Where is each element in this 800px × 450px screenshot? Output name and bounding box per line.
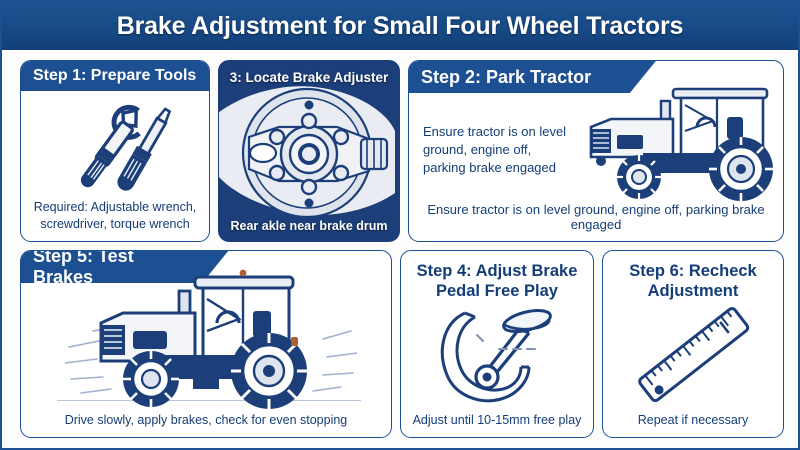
step-title: Step 1: Prepare Tools [33, 67, 196, 85]
step-title: Step 4: Adjust Brake Pedal Free Play [401, 251, 593, 301]
step-banner: Step 1: Prepare Tools [21, 61, 209, 91]
brake-drum-hub-icon [219, 61, 400, 242]
step-card-test-brakes[interactable]: Step 5: Test Brakes [20, 250, 392, 438]
step-card-recheck-adjustment[interactable]: Step 6: Recheck Adjustment [602, 250, 784, 438]
poster-header: Brake Adjustment for Small Four Wheel Tr… [2, 2, 798, 50]
step-card-adjust-pedal-free-play[interactable]: Step 4: Adjust Brake Pedal Free Play [400, 250, 594, 438]
step-title: Step 2: Park Tractor [421, 67, 591, 88]
step-card-locate-brake-adjuster[interactable]: 3: Locate Brake Adjuster Rear akle near … [218, 60, 400, 242]
wrench-screwdriver-icon [49, 97, 183, 201]
step-caption: Required: Adjustable wrench, screwdriver… [21, 199, 209, 232]
tractor-icon [577, 83, 784, 205]
step-caption: Adjust until 10-15mm free play [401, 412, 593, 429]
tractor-motion-icon [65, 267, 357, 413]
step-title: Step 6: Recheck Adjustment [603, 251, 783, 301]
step-caption: Ensure tractor is on level ground, engin… [409, 202, 783, 232]
step-body-text: Ensure tractor is on level ground, engin… [423, 123, 575, 177]
step-caption: Drive slowly, apply brakes, check for ev… [21, 412, 391, 429]
steps-grid: Step 1: Prepare Tools [2, 50, 800, 450]
infographic-poster: Brake Adjustment for Small Four Wheel Tr… [0, 0, 800, 450]
page-title: Brake Adjustment for Small Four Wheel Tr… [117, 12, 683, 41]
brake-pedal-icon [435, 307, 567, 411]
step-card-prepare-tools[interactable]: Step 1: Prepare Tools [20, 60, 210, 242]
ruler-icon [621, 307, 767, 403]
step-card-park-tractor[interactable]: Step 2: Park Tractor Ensure tractor is o… [408, 60, 784, 242]
step-caption: Repeat if necessary [603, 412, 783, 429]
step-caption: Rear akle near brake drum [219, 219, 399, 233]
step-title: 3: Locate Brake Adjuster [219, 61, 399, 85]
